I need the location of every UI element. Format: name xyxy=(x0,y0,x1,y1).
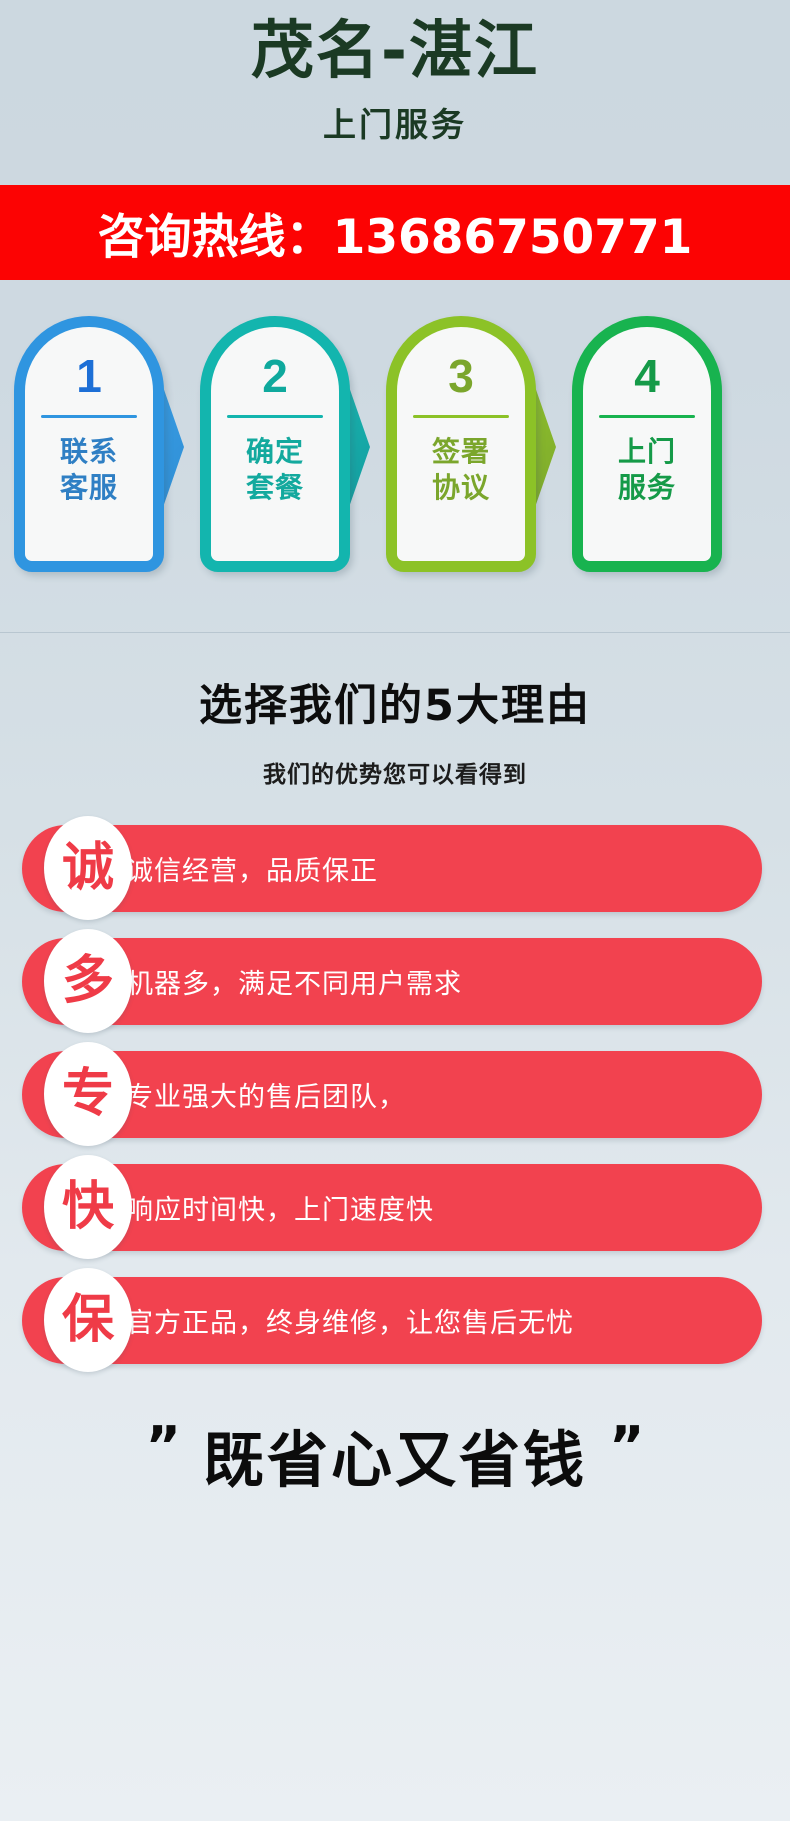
step-divider xyxy=(599,415,695,418)
step-divider xyxy=(227,415,323,418)
step-number: 1 xyxy=(76,353,102,399)
step-label: 签署 协议 xyxy=(432,434,490,506)
reasons-title: 选择我们的5大理由 xyxy=(0,671,790,733)
reason-text: 机器多，满足不同用户需求 xyxy=(126,962,462,1001)
reason-badge-icon: 诚 xyxy=(44,816,132,920)
step-label: 上门 服务 xyxy=(618,434,676,506)
step-divider xyxy=(41,415,137,418)
quote-close-icon: ” xyxy=(609,1420,645,1474)
step-card: 4 上门 服务 xyxy=(572,316,722,572)
reason-badge-char: 专 xyxy=(62,1068,114,1120)
reason-text: 官方正品，终身维修，让您售后无忧 xyxy=(126,1301,574,1340)
hotline-text: 咨询热线：13686750771 xyxy=(98,198,693,267)
step-number: 2 xyxy=(262,353,288,399)
reason-item[interactable]: 诚 诚信经营，品质保正 xyxy=(22,825,762,912)
reason-badge-icon: 多 xyxy=(44,929,132,1033)
reason-item[interactable]: 保 官方正品，终身维修，让您售后无忧 xyxy=(22,1277,762,1364)
reason-badge-char: 诚 xyxy=(62,842,114,894)
step-card: 3 签署 协议 xyxy=(386,316,536,572)
step-card: 2 确定 套餐 xyxy=(200,316,350,572)
reason-badge-icon: 保 xyxy=(44,1268,132,1372)
page-title: 茂名-湛江 xyxy=(251,18,539,84)
reason-badge-char: 多 xyxy=(62,955,114,1007)
reason-item[interactable]: 专 专业强大的售后团队， xyxy=(22,1051,762,1138)
process-steps-row: 1 联系 客服 2 确定 套餐 3 签署 协议 4 xyxy=(0,316,790,572)
process-step-4[interactable]: 4 上门 服务 xyxy=(572,316,722,572)
quote-open-icon: ” xyxy=(145,1420,181,1474)
reasons-heading-block: 选择我们的5大理由 我们的优势您可以看得到 xyxy=(0,633,790,789)
header-banner: 茂名-湛江 上门服务 xyxy=(0,0,790,185)
reason-badge-icon: 快 xyxy=(44,1155,132,1259)
page-subtitle: 上门服务 xyxy=(323,98,467,146)
slogan-text: 既省心又省钱 xyxy=(203,1410,587,1499)
process-step-2[interactable]: 2 确定 套餐 xyxy=(200,316,350,572)
step-label: 联系 客服 xyxy=(60,434,118,506)
reason-badge-char: 快 xyxy=(62,1181,114,1233)
reason-badge-icon: 专 xyxy=(44,1042,132,1146)
reason-item[interactable]: 快 响应时间快，上门速度快 xyxy=(22,1164,762,1251)
step-card: 1 联系 客服 xyxy=(14,316,164,572)
process-step-3[interactable]: 3 签署 协议 xyxy=(386,316,536,572)
step-number: 3 xyxy=(448,353,474,399)
reason-text: 诚信经营，品质保正 xyxy=(126,849,378,888)
step-label: 确定 套餐 xyxy=(246,434,304,506)
slogan-block: ” 既省心又省钱 ” xyxy=(0,1364,790,1499)
reasons-list: 诚 诚信经营，品质保正 多 机器多，满足不同用户需求 专 专业强大的售后团队， … xyxy=(0,789,790,1364)
reason-item[interactable]: 多 机器多，满足不同用户需求 xyxy=(22,938,762,1025)
step-number: 4 xyxy=(634,353,660,399)
process-step-1[interactable]: 1 联系 客服 xyxy=(14,316,164,572)
hotline-bar[interactable]: 咨询热线：13686750771 xyxy=(0,185,790,280)
step-divider xyxy=(413,415,509,418)
reasons-subtitle: 我们的优势您可以看得到 xyxy=(0,755,790,789)
process-steps-section: 1 联系 客服 2 确定 套餐 3 签署 协议 4 xyxy=(0,280,790,630)
reason-text: 专业强大的售后团队， xyxy=(126,1075,406,1114)
reason-badge-char: 保 xyxy=(62,1294,114,1346)
reason-text: 响应时间快，上门速度快 xyxy=(126,1188,434,1227)
